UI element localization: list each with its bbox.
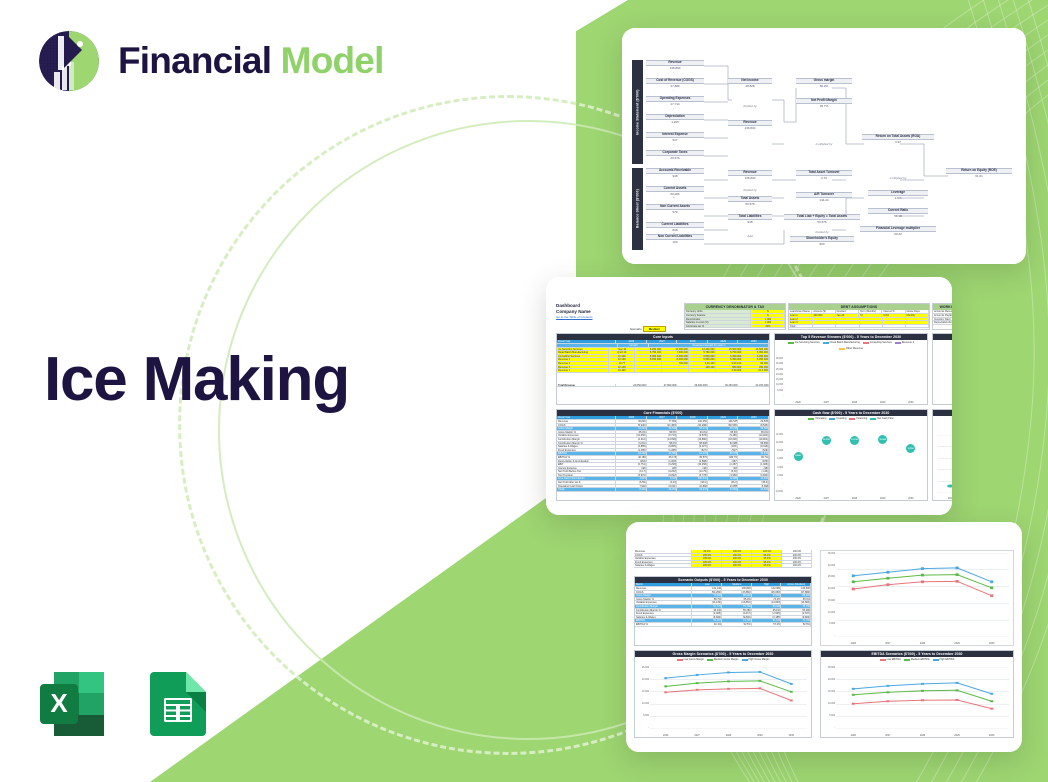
y-tick: 5,000	[635, 715, 649, 717]
y-tick: 30,000	[775, 363, 783, 365]
legend-item: Operating	[808, 417, 826, 420]
dupont-node-accounts-receivable: Accounts Receivable 948	[646, 168, 704, 178]
y-tick: 10,000	[775, 384, 783, 386]
data-point	[790, 683, 793, 685]
x-tick: 2029	[880, 401, 885, 404]
y-tick: 12,000	[775, 434, 783, 436]
x-tick: 2026	[948, 497, 952, 500]
dupont-node-depreciation: Depreciation 1,265	[646, 114, 704, 124]
dupont-node-nclb: Non Current Liabilities 100	[646, 234, 704, 244]
format-badges: X	[30, 662, 220, 746]
data-label-bubble: 10,700	[850, 436, 859, 445]
data-point	[956, 580, 959, 583]
assumption-block-debt: DEBT ASSUMPTIONS Loan/Grant Name Amount …	[788, 303, 930, 330]
table-row: Salaries & Wages105.0%100.0%95.0%100.0%	[634, 564, 812, 568]
x-tick: 2030	[989, 734, 994, 737]
data-point	[886, 700, 889, 702]
dupont-operator-divided-1: divided by	[728, 104, 772, 108]
data-label-bubble: 10,750	[822, 436, 831, 445]
y-tick: 5,000	[821, 623, 835, 625]
y-tick: 15,000	[775, 379, 783, 381]
data-point	[758, 687, 761, 689]
data-point	[990, 580, 993, 583]
plot	[836, 667, 1009, 729]
dupont-node-total-liab-equity: Total Liab + Equity = Total Assets 50,57…	[784, 214, 860, 224]
data-point	[990, 586, 993, 589]
dupont-op-0: -	[673, 70, 674, 74]
plot: 6,90010,75010,70010,9008,700	[784, 435, 925, 493]
y-tick: 25,000	[821, 576, 835, 578]
data-label-bubble: 6,900	[794, 452, 803, 461]
chart-plot-area: 44.1%43.5%43.0%42.8%40.1% 20262027202820…	[933, 350, 952, 404]
x-tick: 2026	[795, 401, 800, 404]
chart-cash-flow: Cash flow ($'000) - 5 Years to December …	[774, 409, 928, 501]
y-tick: -	[635, 727, 649, 729]
y-tick: 25,000	[775, 369, 783, 371]
dupont-node-ar-turnover: A/R Turnover 144.24	[796, 192, 852, 202]
line-overlay	[836, 553, 1009, 637]
data-point	[696, 689, 699, 691]
legend-item: Medium EBITDA	[904, 658, 930, 661]
data-point	[886, 583, 889, 586]
data-point	[990, 700, 993, 702]
dupont-node-non-current-assets: Non Current Assets 570	[646, 204, 704, 214]
chart-top5-revenue: Top 5 Revenue Streams ($'000) - 5 Years …	[774, 333, 928, 405]
data-point	[727, 671, 730, 673]
x-tick: 2028	[852, 497, 857, 500]
y-tick: 30,000	[821, 565, 835, 567]
brand-name: Financial Model	[118, 40, 384, 82]
x-axis-labels: 20262027202820292030	[942, 401, 952, 404]
y-tick: 35,000	[821, 553, 835, 555]
core-financials-table: Core Financials ($'000) Fiscal Year 2026…	[556, 409, 770, 501]
dupont-operator-add: Add	[728, 234, 772, 238]
page-title: Ice Making	[44, 344, 349, 415]
chart-plot-area: 70,00060,00050,00040,00030,00020,00010,0…	[933, 426, 952, 500]
x-axis-labels: 20262027202820292030	[650, 734, 807, 737]
data-point	[664, 677, 667, 679]
x-tick: 2030	[908, 401, 913, 404]
dupont-node-total-liabilities: Total Liabilities 948	[728, 214, 772, 224]
chart-plot-area: 35,00030,00025,00020,00015,00010,0005,00…	[821, 551, 1013, 645]
scenario-chart-ebitda: EBITDA Scenarios ($'000) - 5 Years to De…	[820, 650, 1014, 738]
screenshot-card-dashboard[interactable]: Dashboard Company Name Go to the Table o…	[546, 277, 952, 515]
data-point	[852, 694, 855, 696]
x-tick: 2026	[851, 642, 856, 645]
scenario-selector[interactable]: Scenario Medium	[630, 327, 666, 331]
y-tick: (2,000)	[775, 491, 783, 493]
scenario-outputs-rows: Revenue131,130136,800142,380136,800COGS(…	[635, 587, 811, 627]
y-axis-labels: 25,00020,00015,00010,0005,000-	[635, 667, 649, 729]
legend-item: Net Cash Flow	[870, 417, 893, 420]
x-tick: 2027	[824, 497, 829, 500]
chart-profitability: Profitability ($'000) - 5 Years to Decem…	[932, 333, 952, 405]
y-axis-labels: 25,00020,00015,00010,0005,000-	[821, 667, 835, 729]
data-point	[852, 703, 855, 705]
svg-text:X: X	[50, 688, 68, 718]
table-row: Depreciation/Amortisation Years5	[933, 321, 952, 325]
screenshot-card-scenario[interactable]: Revenue80.0%100.0%120.0%100.0%COGS105.0%…	[626, 522, 1022, 752]
scenario-sheet: Revenue80.0%100.0%120.0%100.0%COGS105.0%…	[626, 522, 1022, 752]
legend-item: Low EBITDA	[880, 658, 901, 661]
data-point	[921, 567, 924, 570]
dupont-node-revenue: Revenue 136,800	[646, 60, 704, 70]
dupont-node-revenue-turnover: Revenue 136,800	[728, 170, 772, 180]
y-tick: 6,000	[775, 458, 783, 460]
data-point	[921, 690, 924, 692]
data-point	[758, 680, 761, 682]
data-point	[696, 682, 699, 684]
series-line	[666, 681, 792, 692]
dupont-node-roe: Return on Equity (ROE) 61.01	[946, 168, 1012, 178]
plot	[836, 553, 1009, 637]
line-overlay	[937, 435, 952, 493]
scenario-chart-revenue: 35,00030,00025,00020,00015,00010,0005,00…	[820, 550, 1014, 646]
data-point	[852, 580, 855, 583]
dupont-tree: Income Statement ($'000) Balance Sheet (…	[632, 58, 1018, 250]
data-point	[790, 699, 793, 701]
chart-plot-area: 25,00020,00015,00010,0005,000- 202620272…	[635, 665, 811, 737]
brand-name-part2: Model	[281, 40, 384, 81]
legend-item: Ice Servicing Services	[788, 341, 820, 344]
plot	[784, 359, 925, 397]
x-tick: 2028	[726, 734, 731, 737]
dupont-node-total-assets: Total Assets 50,576	[728, 196, 772, 206]
y-tick: 5,000	[775, 390, 783, 392]
dupont-node-cogs: Cost of Revenue (COGS) 47,880	[646, 78, 704, 88]
dupont-node-total-asset-turnover: Total Asset Turnover 2.70	[796, 170, 852, 180]
dupont-node-gross-margin: Gross margin 65.0%	[796, 78, 852, 88]
dashboard-title: Dashboard Company Name	[556, 303, 591, 315]
data-point	[852, 574, 855, 577]
x-axis-labels: 20262027202820292030	[836, 734, 1009, 737]
chart-plot-area: 25,00020,00015,00010,0005,000- 202620272…	[821, 665, 1013, 737]
dupont-node-roa: Return on Total Assets (ROA) 0.97	[862, 134, 934, 144]
table-row: EBITDA %40.1%52.5%57.0%52.5%	[635, 623, 811, 627]
x-tick: 2029	[757, 734, 762, 737]
dashboard-sheet: Dashboard Company Name Go to the Table o…	[546, 277, 952, 515]
microsoft-excel-icon[interactable]: X	[30, 662, 114, 746]
legend-item: Revenue 4	[895, 341, 914, 344]
block-rows: Currency Units$ Currency Feature$ Denomi…	[685, 310, 785, 328]
data-point	[886, 685, 889, 687]
y-tick: 15,000	[821, 600, 835, 602]
scenario-assumptions-table: Revenue80.0%100.0%120.0%100.0%COGS105.0%…	[634, 550, 812, 568]
data-point	[956, 573, 959, 576]
data-point	[956, 699, 959, 701]
y-axis-labels: 12,00010,0008,0006,0004,0002,000-(2,000)	[775, 434, 783, 493]
y-tick: 25,000	[821, 667, 835, 669]
series-line	[951, 448, 952, 486]
dupont-node-net-profit-margin: Net Profit Margin 35.7%	[796, 98, 852, 108]
y-tick: 25,000	[635, 667, 649, 669]
x-tick: 2029	[954, 734, 959, 737]
chart-legend: RevenueEBITDAEBITDA %	[933, 340, 952, 344]
legend-item: High Gross Margin	[742, 658, 770, 661]
data-point	[790, 691, 793, 693]
data-point	[886, 571, 889, 574]
plot	[650, 667, 807, 729]
plot: 44.1%43.5%43.0%42.8%40.1%	[942, 359, 952, 397]
y-tick: 10,000	[821, 612, 835, 614]
dupont-node-financial-leverage-multiplier: Financial Leverage multiplier 60.22	[860, 226, 936, 236]
legend-item: Financing	[849, 417, 867, 420]
legend-item: Consulting Services	[863, 341, 892, 344]
data-point	[921, 683, 924, 685]
data-point	[921, 699, 924, 701]
y-tick: 10,000	[775, 442, 783, 444]
data-point	[947, 485, 952, 488]
dupont-node-corporate-taxes: Corporate Taxes 20,576	[646, 150, 704, 160]
dupont-op-4: -	[673, 142, 674, 146]
x-tick: 2027	[885, 642, 890, 645]
y-tick: 10,000	[635, 703, 649, 705]
chart-legend: Low Gross MarginMedium Gross MarginHigh …	[635, 657, 811, 661]
assumption-block-currency: CURRENCY DENOMINATOR & TAX Currency Unit…	[684, 303, 786, 330]
financial-model-circle-logo	[36, 28, 102, 94]
line-overlay	[942, 359, 952, 397]
y-tick: 10,000	[821, 703, 835, 705]
line-overlay	[836, 667, 1009, 729]
legend-item: High EBITDA	[933, 658, 955, 661]
y-tick: 4,000	[775, 467, 783, 469]
dashboard-body: Dashboard Company Name Go to the Table o…	[556, 303, 944, 499]
data-point	[886, 691, 889, 693]
data-point	[990, 693, 993, 695]
legend-item: Investing	[829, 417, 846, 420]
data-point	[664, 685, 667, 687]
core-inputs-total-row: Total Revenue 24,650,000 27,800,000 29,4…	[557, 384, 769, 388]
chart-legend: OperatingInvestingFinancingNet Cash Flow	[775, 416, 927, 420]
dupont-band-balance-sheet: Balance Sheet ($'000)	[632, 168, 643, 250]
dupont-node-current-assets: Current Assets 50,006	[646, 186, 704, 196]
assumption-block-working-capital: WORKING CAPITAL & DEPRECIATION Accounts …	[932, 303, 952, 330]
dupont-node-leverage: Leverage 1.9%	[868, 190, 928, 200]
line-overlay	[650, 667, 807, 729]
dupont-node-current-ratio: Current Ratio 58.98	[868, 208, 928, 218]
slide-canvas: Financial Model Ice Making X	[0, 0, 1048, 782]
scenario-chart-gross-margin: Gross Margin Scenarios ($'000) - 5 Years…	[634, 650, 812, 738]
series-line	[666, 688, 792, 700]
brand-name-part1: Financial	[118, 40, 271, 81]
data-point	[990, 594, 993, 597]
data-point	[956, 689, 959, 691]
dupont-operator-multiplied-1: multiplied by	[796, 142, 852, 146]
chart-legend: Payback yearCumulative Cash Generated (l…	[933, 416, 952, 420]
table-of-contents-link[interactable]: Go to the Table of Contents	[556, 315, 592, 319]
dupont-node-revenue-denominator: Revenue 136,800	[728, 120, 772, 130]
google-sheets-icon[interactable]	[136, 662, 220, 746]
x-tick: 2027	[824, 401, 829, 404]
scenario-body: Revenue80.0%100.0%120.0%100.0%COGS105.0%…	[634, 550, 1016, 738]
y-tick: -	[821, 635, 835, 637]
dupont-node-interest-expense: Interest Expense 537	[646, 132, 704, 142]
legend-item: Cloud Batch Manufacturing	[823, 341, 860, 344]
y-tick: -	[775, 483, 783, 485]
table-row: Revenue 710.1403,20,02010,0,000	[557, 369, 769, 373]
dupont-op-3: -	[673, 124, 674, 128]
data-point	[696, 674, 699, 676]
dupont-op-2: -	[673, 106, 674, 110]
y-tick: -	[775, 395, 783, 397]
y-tick: 35,000	[775, 358, 783, 360]
x-tick: 2029	[954, 642, 959, 645]
data-point	[758, 671, 761, 673]
chart-plot-area: 35,00030,00025,00020,00015,00010,0005,00…	[775, 350, 927, 404]
x-axis-labels: 20262027202820292030	[784, 401, 925, 404]
chart-plot-area: 12,00010,0008,0006,0004,0002,000-(2,000)…	[775, 426, 927, 500]
data-point	[956, 682, 959, 684]
data-point	[852, 588, 855, 591]
data-point	[956, 567, 959, 570]
y-tick: 15,000	[821, 691, 835, 693]
x-tick: 2030	[989, 642, 994, 645]
screenshot-card-dupont[interactable]: Income Statement ($'000) Balance Sheet (…	[622, 28, 1026, 264]
table-row: Totals8,40426,05134,24744,50444,530	[557, 488, 769, 492]
dupont-band-income-statement: Income Statement ($'000)	[632, 60, 643, 164]
brand-logo[interactable]: Financial Model	[36, 28, 384, 94]
data-point	[727, 688, 730, 690]
legend-item: Medium Gross Margin	[707, 658, 739, 661]
x-tick: 2028	[920, 642, 925, 645]
y-tick: 15,000	[635, 691, 649, 693]
core-inputs-rows: Ice Servicing ServicesYear 108,450,00011…	[557, 348, 769, 373]
dupont-node-current-liabilities: Current Liabilities 848	[646, 222, 704, 232]
x-axis-labels: 20262027202820292030	[937, 497, 952, 500]
dupont-node-operating-expenses: Operating Expenses 17,714	[646, 96, 704, 106]
x-tick: 2026	[851, 734, 856, 737]
scenario-value[interactable]: Medium	[643, 326, 666, 332]
data-point	[852, 688, 855, 690]
data-point	[886, 577, 889, 580]
data-point	[727, 680, 730, 682]
x-tick: 2029	[880, 497, 885, 500]
table-row: Total	[789, 325, 929, 329]
x-tick: 2027	[885, 734, 890, 737]
chart-investment-payback: Investment Payback Chart ($'000) - 5 Yea…	[932, 409, 952, 501]
data-point	[664, 691, 667, 693]
x-tick: 2030	[908, 497, 913, 500]
data-point	[990, 708, 993, 710]
dupont-node-net-income: Net Income 48,828	[728, 78, 772, 88]
data-point	[921, 580, 924, 583]
bars	[784, 359, 925, 397]
y-tick: 20,000	[775, 374, 783, 376]
scenario-outputs-table: Scenario Outputs ($'000) - 5 Years to De…	[634, 576, 812, 646]
x-axis-labels: 20262027202820292030	[836, 642, 1009, 645]
x-axis-labels: 20262027202820292030	[784, 497, 925, 500]
x-tick: 2026	[663, 734, 668, 737]
x-tick: 2027	[694, 734, 699, 737]
dupont-op-1: -	[673, 88, 674, 92]
x-tick: 2030	[789, 734, 794, 737]
y-tick: 8,000	[775, 450, 783, 452]
dupont-operator-multiplied-2: multiplied by	[862, 176, 934, 180]
x-tick: 2026	[795, 497, 800, 500]
y-tick: 20,000	[821, 588, 835, 590]
dupont-op-bs-1: +	[673, 196, 675, 200]
dupont-operator-divided-3: divided by	[784, 230, 860, 234]
core-financials-rows: Revenue36,80077,860100,350136,53529,535C…	[557, 420, 769, 492]
plot	[937, 435, 952, 493]
data-point	[921, 574, 924, 577]
dupont-operator-divided-2: divided by	[728, 188, 772, 192]
table-row: Corporate tax %20%	[685, 325, 785, 329]
y-tick: 5,000	[821, 715, 835, 717]
y-tick: 20,000	[635, 679, 649, 681]
chart-legend: Low EBITDAMedium EBITDAHigh EBITDA	[821, 657, 1013, 661]
dupont-sheet: Income Statement ($'000) Balance Sheet (…	[622, 28, 1026, 264]
y-axis-labels: 35,00030,00025,00020,00015,00010,0005,00…	[775, 358, 783, 397]
legend-item: Low Gross Margin	[677, 658, 704, 661]
x-tick: 2028	[852, 401, 857, 404]
y-axis-labels: 35,00030,00025,00020,00015,00010,0005,00…	[821, 553, 835, 637]
x-tick: 2028	[920, 734, 925, 737]
dupont-node-shareholders-equity: Shareholder's Equity 800	[790, 236, 854, 246]
chart-legend: Ice Servicing ServicesCloud Batch Manufa…	[775, 340, 927, 350]
y-tick: -	[821, 727, 835, 729]
series-line	[853, 581, 991, 595]
core-inputs-table: Core Inputs Fiscal Year 2026 2027 2028 2…	[556, 333, 770, 405]
y-tick: 2,000	[775, 475, 783, 477]
y-tick: 20,000	[821, 679, 835, 681]
